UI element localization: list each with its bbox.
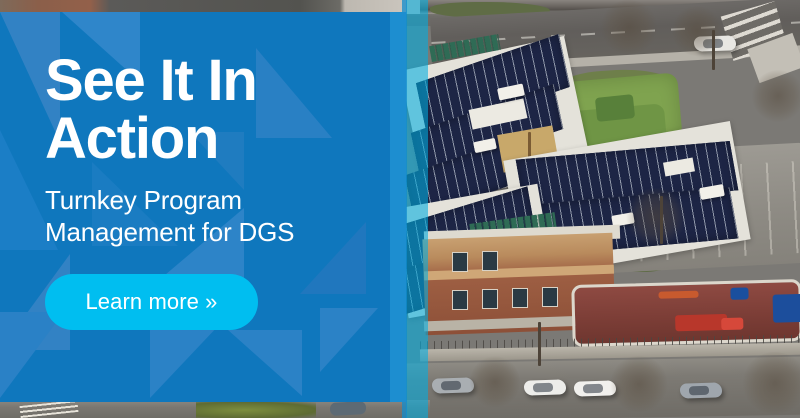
tree	[610, 356, 668, 412]
tree-trunk	[660, 196, 663, 244]
car-cabin	[689, 386, 709, 396]
promo-banner: See It In Action Turnkey Program Managem…	[0, 0, 800, 418]
window	[452, 252, 468, 272]
translucent-cyan-band	[406, 0, 428, 418]
tree	[600, 0, 658, 54]
playground-equipment	[675, 314, 727, 331]
car-cabin	[533, 383, 553, 393]
car-cabin	[441, 381, 461, 391]
tree	[470, 356, 520, 408]
parked-car	[432, 377, 474, 393]
parked-car	[330, 401, 367, 416]
facet-shape	[150, 324, 220, 398]
facet-shape	[228, 330, 302, 396]
tree-trunk	[538, 322, 541, 366]
playground-slide	[721, 318, 743, 331]
playground-equipment	[730, 287, 748, 299]
shrubbery	[196, 402, 316, 418]
parked-car	[524, 379, 566, 395]
banner-subheadline: Turnkey Program Management for DGS	[45, 184, 355, 248]
tree-trunk	[712, 30, 715, 70]
learn-more-button[interactable]: Learn more »	[45, 274, 258, 330]
window	[452, 290, 468, 310]
car-cabin	[583, 384, 603, 394]
accent-blue-band	[390, 12, 406, 402]
tree	[742, 352, 800, 414]
banner-content: See It In Action Turnkey Program Managem…	[45, 52, 375, 330]
window	[512, 288, 528, 308]
playground-equipment	[658, 291, 698, 299]
banner-headline: See It In Action	[45, 52, 375, 168]
window	[482, 289, 498, 309]
playground-equipment	[595, 94, 635, 122]
tree	[752, 70, 800, 122]
tree	[626, 188, 686, 246]
playground-equipment	[773, 293, 800, 322]
parked-car	[680, 382, 722, 398]
window	[482, 251, 498, 271]
window	[542, 287, 558, 307]
